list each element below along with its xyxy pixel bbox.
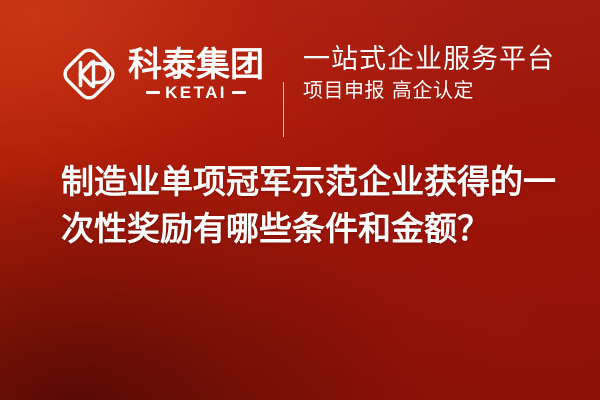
logo-english-row: KETAI <box>128 84 264 101</box>
header-divider <box>283 82 284 137</box>
tagline-primary: 一站式企业服务平台 <box>303 45 555 74</box>
ketai-logo-icon <box>60 45 118 103</box>
headline: 制造业单项冠军示范企业获得的一 次性奖励有哪些条件和金额？ <box>61 158 561 252</box>
banner-header: 科泰集团 KETAI 一站式企业服务平台 项目申报 高企认定 <box>0 34 600 112</box>
headline-line-2: 次性奖励有哪些条件和金额？ <box>61 205 561 252</box>
promo-banner: 科泰集团 KETAI 一站式企业服务平台 项目申报 高企认定 制造业单项冠军示范… <box>0 0 600 400</box>
logo-rule-left-icon <box>146 91 160 94</box>
logo-company-name-en: KETAI <box>165 84 227 101</box>
brand-lockup[interactable]: 科泰集团 KETAI <box>60 34 264 112</box>
headline-line-1: 制造业单项冠军示范企业获得的一 <box>61 158 561 205</box>
logo-rule-right-icon <box>232 91 246 94</box>
logo-company-name-cn: 科泰集团 <box>128 48 264 82</box>
logo-wordmark: 科泰集团 KETAI <box>128 48 264 101</box>
tagline-secondary: 项目申报 高企认定 <box>303 79 555 101</box>
tagline-block: 一站式企业服务平台 项目申报 高企认定 <box>303 34 555 112</box>
